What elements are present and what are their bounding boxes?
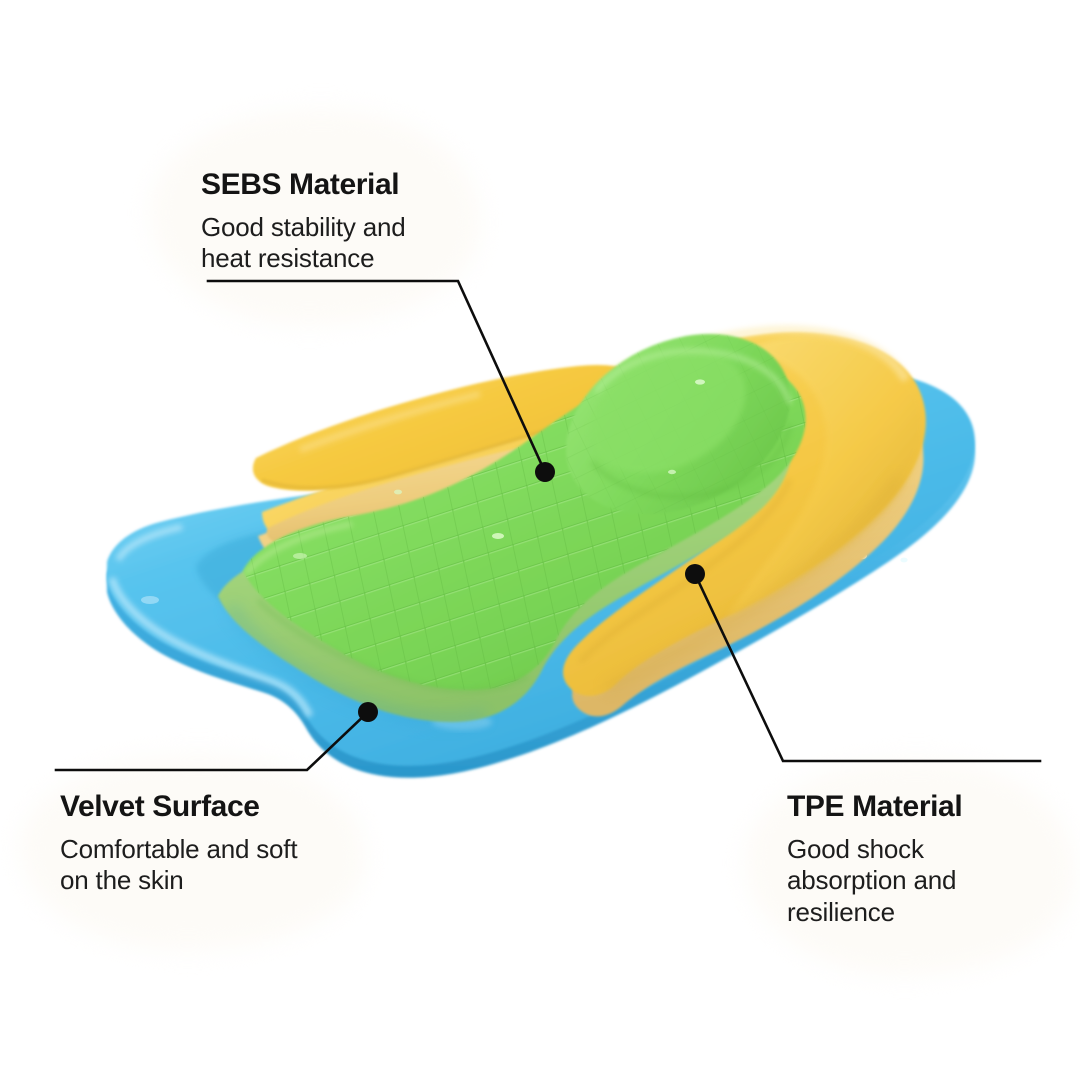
callout-title-tpe: TPE Material	[787, 791, 962, 823]
callout-tpe: TPE Material Good shock absorption and r…	[787, 791, 962, 928]
callout-sebs: SEBS Material Good stability and heat re…	[201, 169, 406, 275]
infographic-canvas: SEBS Material Good stability and heat re…	[0, 0, 1080, 1080]
callout-title-sebs: SEBS Material	[201, 169, 406, 201]
callout-velvet: Velvet Surface Comfortable and soft on t…	[60, 791, 297, 897]
callout-title-velvet: Velvet Surface	[60, 791, 297, 823]
callout-description-sebs: Good stability and heat resistance	[201, 212, 406, 275]
callout-description-velvet: Comfortable and soft on the skin	[60, 834, 297, 897]
callout-description-tpe: Good shock absorption and resilience	[787, 834, 962, 928]
